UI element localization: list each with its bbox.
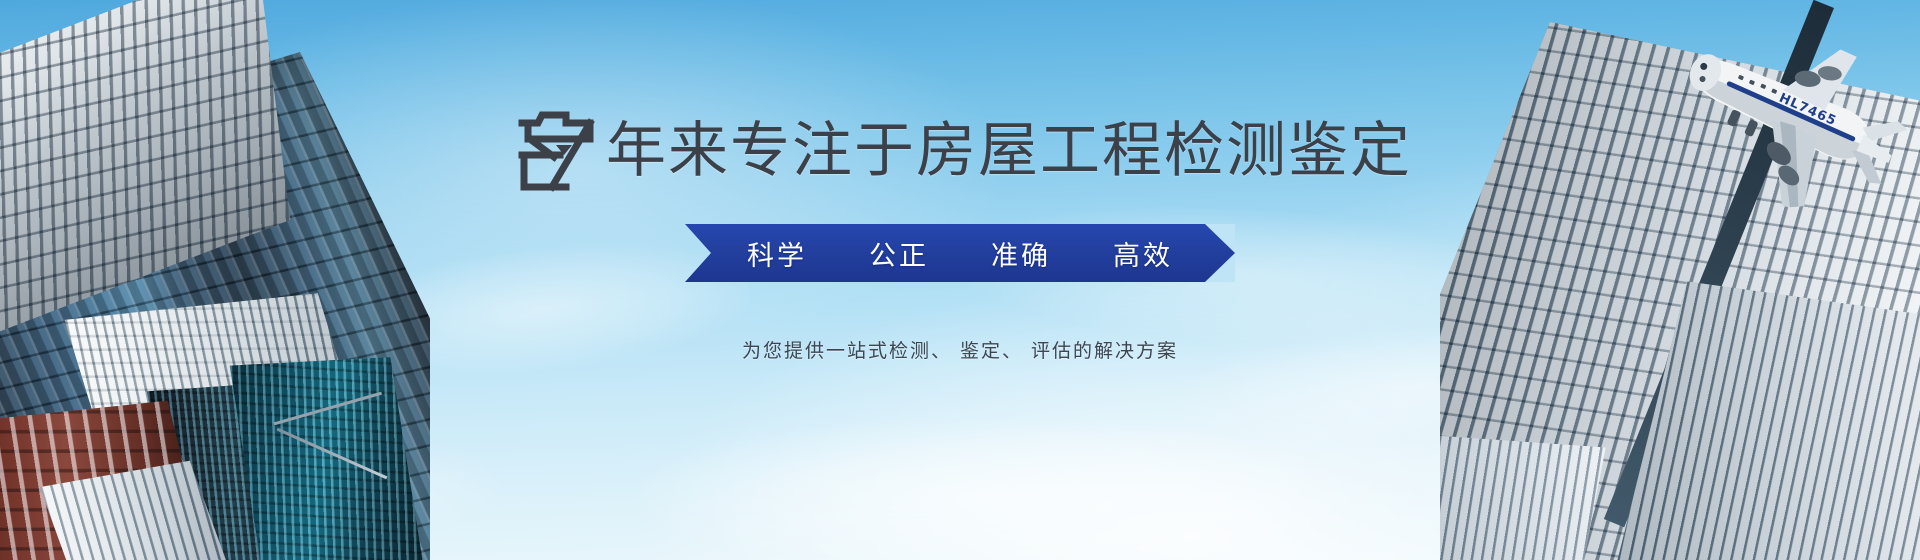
- left-skyline-photo: [0, 0, 430, 560]
- hero-banner: HL7465: [0, 0, 1920, 560]
- right-low-building: [1440, 435, 1606, 560]
- airplane-icon: HL7465: [1618, 0, 1920, 218]
